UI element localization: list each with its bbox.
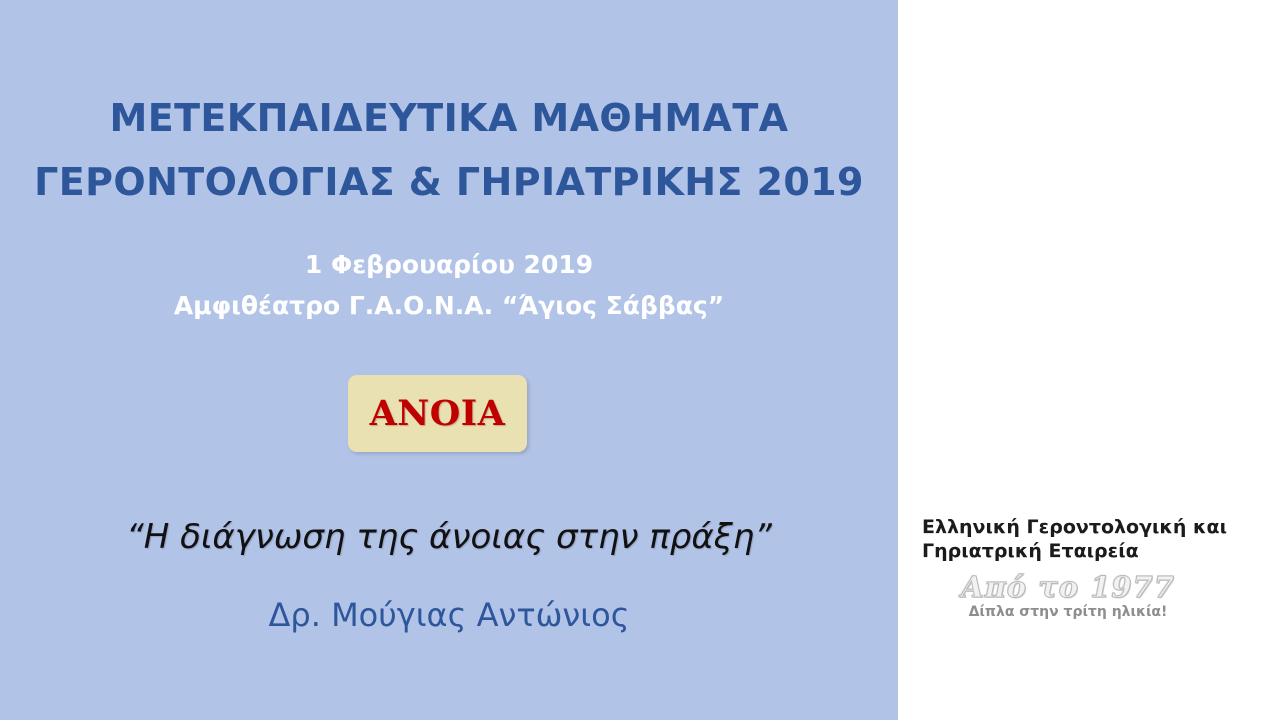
presentation-slide: ΜΕΤΕΚΠΑΙΔΕΥΤΙΚΑ ΜΑΘΗΜΑΤΑ ΓΕΡΟΝΤΟΛΟΓΙΑΣ &… [0,0,1280,720]
logo-area: Ελληνική Γεροντολογική και Γηριατρική Ετ… [898,0,1280,720]
presenter-name: Δρ. Μούγιας Αντώνιος [0,592,898,638]
title-line-1: ΜΕΤΕΚΠΑΙΔΕΥΤΙΚΑ ΜΑΘΗΜΑΤΑ [0,86,898,150]
society-wordmark: Ελληνική Γεροντολογική και Γηριατρική Ετ… [922,515,1182,563]
event-venue: Αμφιθέατρο Γ.Α.Ο.Ν.Α. “Άγιος Σάββας” [0,285,898,326]
society-wordmark-line-2: Γηριατρική Εταιρεία [922,539,1182,563]
talk-title: “Η διάγνωση της άνοιας στην πράξη” [0,513,898,561]
topic-highlight-box: ΑΝΟΙΑ [348,375,527,452]
society-tagline: Δίπλα στην τρίτη ηλικία! [958,602,1178,622]
since-block: Από το 1977 Δίπλα στην τρίτη ηλικία! [958,572,1178,622]
society-wordmark-line-1: Ελληνική Γεροντολογική και [922,515,1182,539]
page-title: ΜΕΤΕΚΠΑΙΔΕΥΤΙΚΑ ΜΑΘΗΜΑΤΑ ΓΕΡΟΝΤΟΛΟΓΙΑΣ &… [0,86,898,214]
title-panel: ΜΕΤΕΚΠΑΙΔΕΥΤΙΚΑ ΜΑΘΗΜΑΤΑ ΓΕΡΟΝΤΟΛΟΓΙΑΣ &… [0,0,898,720]
since-text: Από το 1977 [958,572,1178,602]
topic-label: ΑΝΟΙΑ [370,396,506,431]
title-line-2: ΓΕΡΟΝΤΟΛΟΓΙΑΣ & ΓΗΡΙΑΤΡΙΚΗΣ 2019 [0,150,898,214]
event-date: 1 Φεβρουαρίου 2019 [0,244,898,285]
event-details: 1 Φεβρουαρίου 2019 Αμφιθέατρο Γ.Α.Ο.Ν.Α.… [0,244,898,326]
